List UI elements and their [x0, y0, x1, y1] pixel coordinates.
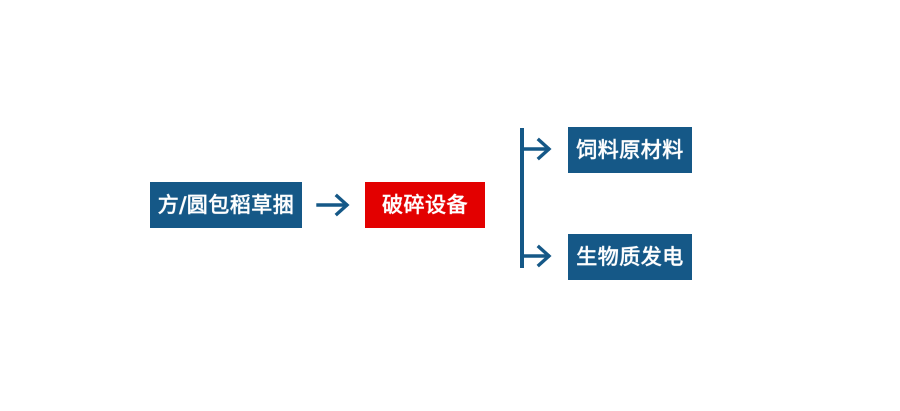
node-processing-equipment: 破碎设备 [365, 182, 485, 228]
branch-connector [512, 118, 570, 280]
node-output-feed-material-label: 饲料原材料 [576, 140, 684, 161]
node-processing-equipment-label: 破碎设备 [382, 195, 468, 216]
node-output-biomass-power: 生物质发电 [568, 234, 692, 280]
main-flow-arrow [312, 188, 360, 222]
process-flow-diagram: 方/圆包稻草捆 破碎设备 [0, 0, 900, 411]
branch-arrows-icon [512, 118, 570, 280]
node-input-material-label: 方/圆包稻草捆 [158, 195, 295, 216]
node-output-biomass-power-label: 生物质发电 [576, 247, 684, 268]
node-input-material: 方/圆包稻草捆 [150, 182, 302, 228]
node-output-feed-material: 饲料原材料 [568, 127, 692, 173]
arrow-right-icon [312, 188, 360, 222]
